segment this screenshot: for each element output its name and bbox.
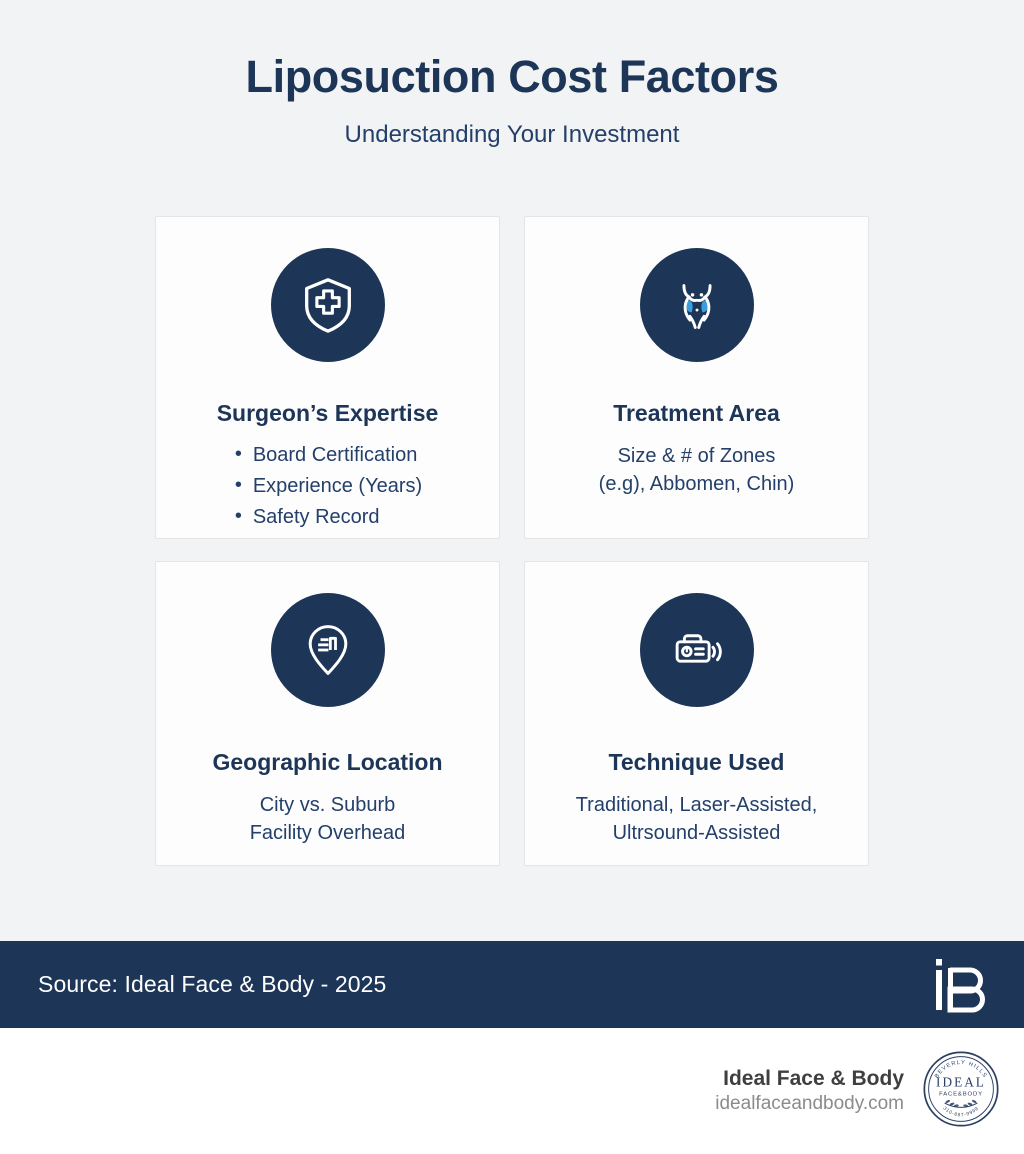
list-item: Experience (Years) [233, 471, 422, 502]
card-title: Geographic Location [212, 749, 442, 777]
list-item: Board Certification [233, 440, 422, 471]
body-torso-treatment-zones-icon [640, 248, 754, 362]
card-description-line: Size & # of Zones [599, 442, 795, 471]
card-bullet-list: Board Certification Experience (Years) S… [233, 440, 422, 533]
card-description-line: Facility Overhead [250, 819, 406, 848]
card-description-line: Ultrsound-Assisted [576, 819, 818, 848]
card-description: Size & # of Zones (e.g), Abbomen, Chin) [585, 442, 809, 500]
header: Liposuction Cost Factors Understanding Y… [0, 0, 1024, 149]
page-title: Liposuction Cost Factors [0, 52, 1024, 102]
source-bar: Source: Ideal Face & Body - 2025 [0, 941, 1024, 1028]
card-surgeons-expertise: Surgeon’s Expertise Board Certification … [155, 216, 500, 539]
brand-url[interactable]: idealfaceandbody.com [715, 1092, 904, 1117]
card-technique-used: Technique Used Traditional, Laser-Assist… [524, 561, 869, 866]
card-geographic-location: Geographic Location City vs. Suburb Faci… [155, 561, 500, 866]
infographic-poster: Liposuction Cost Factors Understanding Y… [0, 0, 1024, 1154]
card-title: Surgeon’s Expertise [217, 400, 439, 428]
card-description: Traditional, Laser-Assisted, Ultrsound-A… [562, 791, 832, 849]
card-description-line: City vs. Suburb [250, 791, 406, 820]
brand-footer: Ideal Face & Body idealfaceandbody.com B… [0, 1028, 1024, 1154]
card-treatment-area: Treatment Area Size & # of Zones (e.g), … [524, 216, 869, 539]
shield-medical-cross-icon [271, 248, 385, 362]
badge-line-1: IDEAL [936, 1074, 986, 1089]
cost-factor-card-grid: Surgeon’s Expertise Board Certification … [155, 216, 869, 866]
ultrasound-device-waves-icon [640, 593, 754, 707]
card-title: Treatment Area [613, 400, 780, 428]
card-title: Technique Used [609, 749, 785, 777]
source-text: Source: Ideal Face & Body - 2025 [38, 971, 386, 998]
brand-name: Ideal Face & Body [715, 1066, 904, 1092]
badge-line-2: FACE&BODY [939, 1091, 983, 1097]
list-item: Safety Record [233, 502, 422, 533]
ideal-face-body-seal-badge: BEVERLY HILLS IDEAL FACE&BODY 310-887-99… [922, 1050, 1000, 1133]
card-description-line: Traditional, Laser-Assisted, [576, 791, 818, 820]
page-subtitle: Understanding Your Investment [0, 121, 1024, 149]
card-description: City vs. Suburb Facility Overhead [236, 791, 420, 849]
map-pin-city-buildings-icon [271, 593, 385, 707]
ib-monogram-logo [934, 956, 988, 1014]
brand-text-block: Ideal Face & Body idealfaceandbody.com [715, 1066, 904, 1117]
card-description-line: (e.g), Abbomen, Chin) [599, 470, 795, 499]
